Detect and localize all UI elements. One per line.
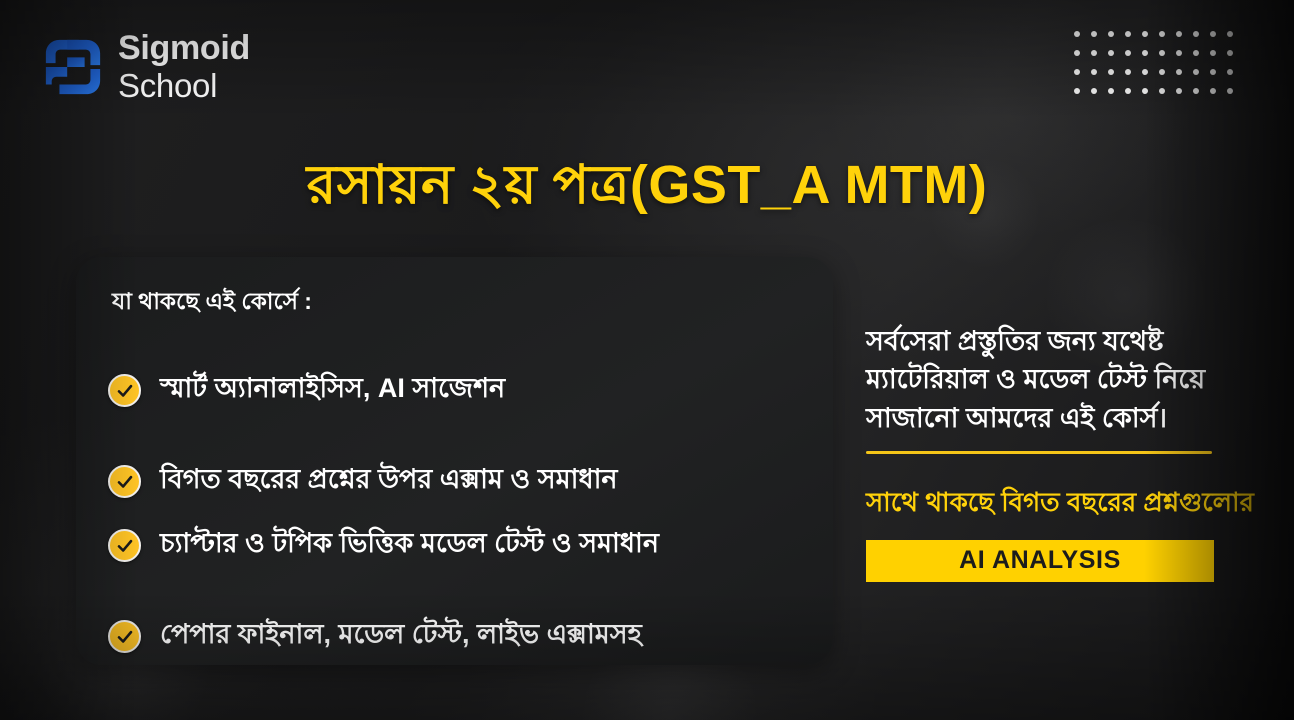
grid-dot: [1074, 88, 1080, 94]
grid-dot: [1108, 69, 1114, 75]
grid-dot: [1108, 88, 1114, 94]
course-features-card: যা থাকছে এই কোর্সে : স্মার্ট অ্যানালাইসি…: [76, 257, 833, 665]
feature-item-label: স্মার্ট অ্যানালাইসিস, AI সাজেশন: [160, 368, 505, 413]
grid-dot: [1108, 31, 1114, 37]
sigmoid-s-logo-icon: [42, 36, 104, 98]
grid-dot: [1210, 88, 1216, 94]
brand-name-secondary: School: [118, 69, 250, 102]
grid-dot: [1193, 88, 1199, 94]
grid-dot: [1159, 31, 1165, 37]
grid-dot: [1091, 69, 1097, 75]
grid-dot: [1227, 88, 1233, 94]
feature-item: চ্যাপ্টার ও টপিক ভিত্তিক মডেল টেস্ট ও সম…: [108, 523, 803, 568]
grid-dot: [1142, 50, 1148, 56]
check-circle-icon: [108, 374, 141, 407]
check-circle-icon: [108, 465, 141, 498]
grid-dot: [1176, 88, 1182, 94]
grid-dot: [1091, 31, 1097, 37]
promo-tagline: সাথে থাকছে বিগত বছরের প্রশ্নগুলোর: [866, 482, 1286, 526]
grid-dot: [1074, 31, 1080, 37]
slide-canvas: Sigmoid School রসায়ন ২য় পত্র(GST_A MTM…: [0, 0, 1294, 720]
feature-list: স্মার্ট অ্যানালাইসিস, AI সাজেশনবিগত বছরে…: [108, 368, 803, 659]
feature-item: পেপার ফাইনাল, মডেল টেস্ট, লাইভ এক্সামসহ: [108, 614, 803, 659]
feature-item-label: চ্যাপ্টার ও টপিক ভিত্তিক মডেল টেস্ট ও সম…: [160, 523, 659, 568]
grid-dot: [1210, 31, 1216, 37]
grid-dot: [1125, 69, 1131, 75]
grid-dot: [1091, 88, 1097, 94]
grid-dot: [1176, 50, 1182, 56]
grid-dot: [1142, 88, 1148, 94]
check-circle-icon: [108, 620, 141, 653]
promo-column: সর্বসেরা প্রস্তুতির জন্য যথেষ্ট ম্যাটেরি…: [866, 322, 1286, 582]
grid-dot: [1125, 31, 1131, 37]
brand-name-primary: Sigmoid: [118, 31, 250, 65]
grid-dot: [1193, 69, 1199, 75]
grid-dot: [1227, 31, 1233, 37]
feature-item: বিগত বছরের প্রশ্নের উপর এক্সাম ও সমাধান: [108, 459, 803, 504]
grid-dot: [1159, 50, 1165, 56]
promo-divider: [866, 451, 1212, 454]
grid-dot: [1091, 50, 1097, 56]
grid-dot: [1176, 31, 1182, 37]
ai-analysis-button[interactable]: AI ANALYSIS: [866, 540, 1214, 582]
brand-logo[interactable]: Sigmoid School: [42, 31, 250, 102]
promo-paragraph: সর্বসেরা প্রস্তুতির জন্য যথেষ্ট ম্যাটেরি…: [866, 322, 1216, 437]
grid-dot: [1159, 69, 1165, 75]
grid-dot: [1074, 50, 1080, 56]
grid-dot: [1227, 69, 1233, 75]
grid-dot: [1142, 69, 1148, 75]
feature-item: স্মার্ট অ্যানালাইসিস, AI সাজেশন: [108, 368, 803, 413]
grid-dot: [1193, 31, 1199, 37]
grid-dot: [1125, 88, 1131, 94]
page-title: রসায়ন ২য় পত্র(GST_A MTM): [0, 143, 1294, 233]
feature-item-label: বিগত বছরের প্রশ্নের উপর এক্সাম ও সমাধান: [160, 459, 618, 504]
card-heading: যা থাকছে এই কোর্সে :: [112, 283, 803, 322]
grid-dot: [1176, 69, 1182, 75]
grid-dot: [1227, 50, 1233, 56]
feature-item-label: পেপার ফাইনাল, মডেল টেস্ট, লাইভ এক্সামসহ: [160, 614, 642, 659]
grid-dot: [1125, 50, 1131, 56]
check-circle-icon: [108, 529, 141, 562]
grid-dot: [1193, 50, 1199, 56]
grid-dot: [1108, 50, 1114, 56]
grid-dot: [1159, 88, 1165, 94]
grid-dot: [1210, 50, 1216, 56]
grid-dot: [1074, 69, 1080, 75]
grid-dot: [1142, 31, 1148, 37]
grid-dot: [1210, 69, 1216, 75]
dot-grid-decoration: [1074, 31, 1244, 107]
